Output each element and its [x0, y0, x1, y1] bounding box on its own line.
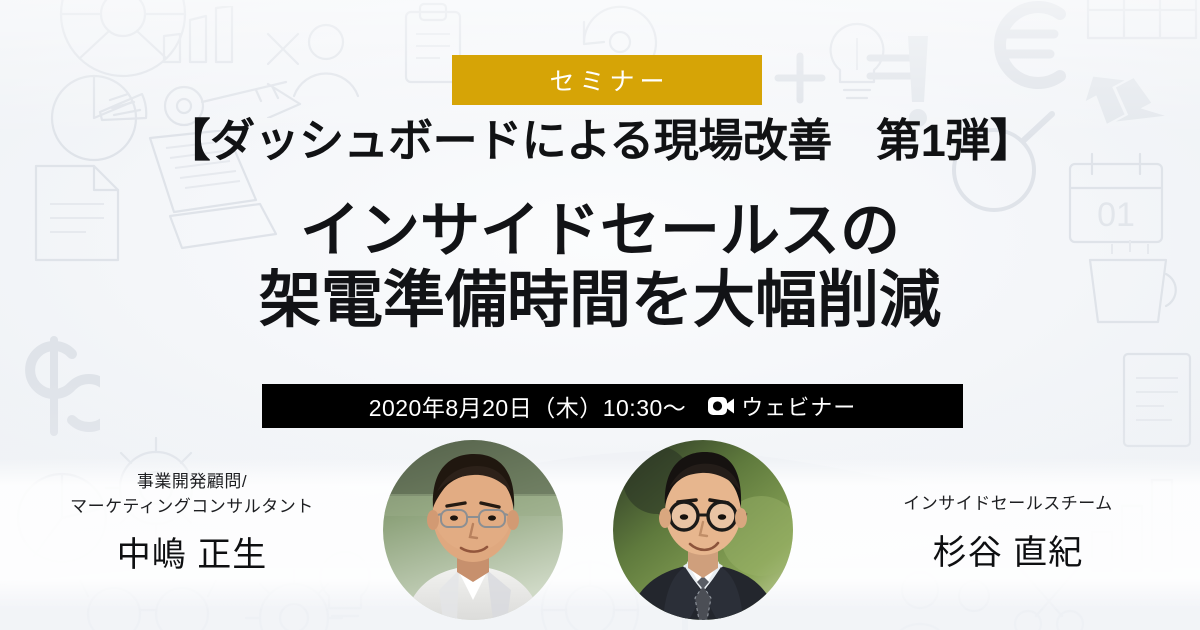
seminar-badge: セミナー: [452, 55, 762, 105]
speaker-info-2: インサイドセールスチーム 杉谷 直紀: [838, 470, 1178, 574]
event-format-label: ウェビナー: [741, 390, 856, 422]
speaker-photo-2: [613, 440, 793, 620]
headline-line-1: インサイドセールスの: [0, 196, 1200, 265]
speaker-photo-1: [383, 440, 563, 620]
speaker-role-1: 事業開発顧問/ マーケティングコンサルタント: [22, 470, 362, 519]
subtitle: 【ダッシュボードによる現場改善 第1弾】: [0, 118, 1200, 163]
seminar-badge-label: セミナー: [544, 62, 669, 98]
speaker-name-1: 中嶋 正生: [22, 527, 362, 576]
webinar-banner: 01: [0, 0, 1200, 630]
headline-line-2: 架電準備時間を大幅削減: [0, 265, 1200, 336]
speaker-info-1: 事業開発顧問/ マーケティングコンサルタント 中嶋 正生: [22, 470, 362, 576]
speaker-role-2-line1: インサイドセールスチーム: [838, 492, 1178, 517]
speaker-role-1-line2: マーケティングコンサルタント: [22, 495, 362, 520]
page-title: インサイドセールスの 架電準備時間を大幅削減: [0, 196, 1200, 336]
speaker-role-2: インサイドセールスチーム: [838, 470, 1178, 517]
video-camera-icon: [708, 396, 734, 416]
speaker-role-1-line1: 事業開発顧問/: [22, 470, 362, 495]
speaker-name-2: 杉谷 直紀: [838, 525, 1178, 574]
event-format: ウェビナー: [708, 390, 856, 422]
event-datetime: 2020年8月20日（木）10:30〜: [369, 389, 687, 423]
date-bar: 2020年8月20日（木）10:30〜 ウェビナー: [262, 384, 963, 428]
